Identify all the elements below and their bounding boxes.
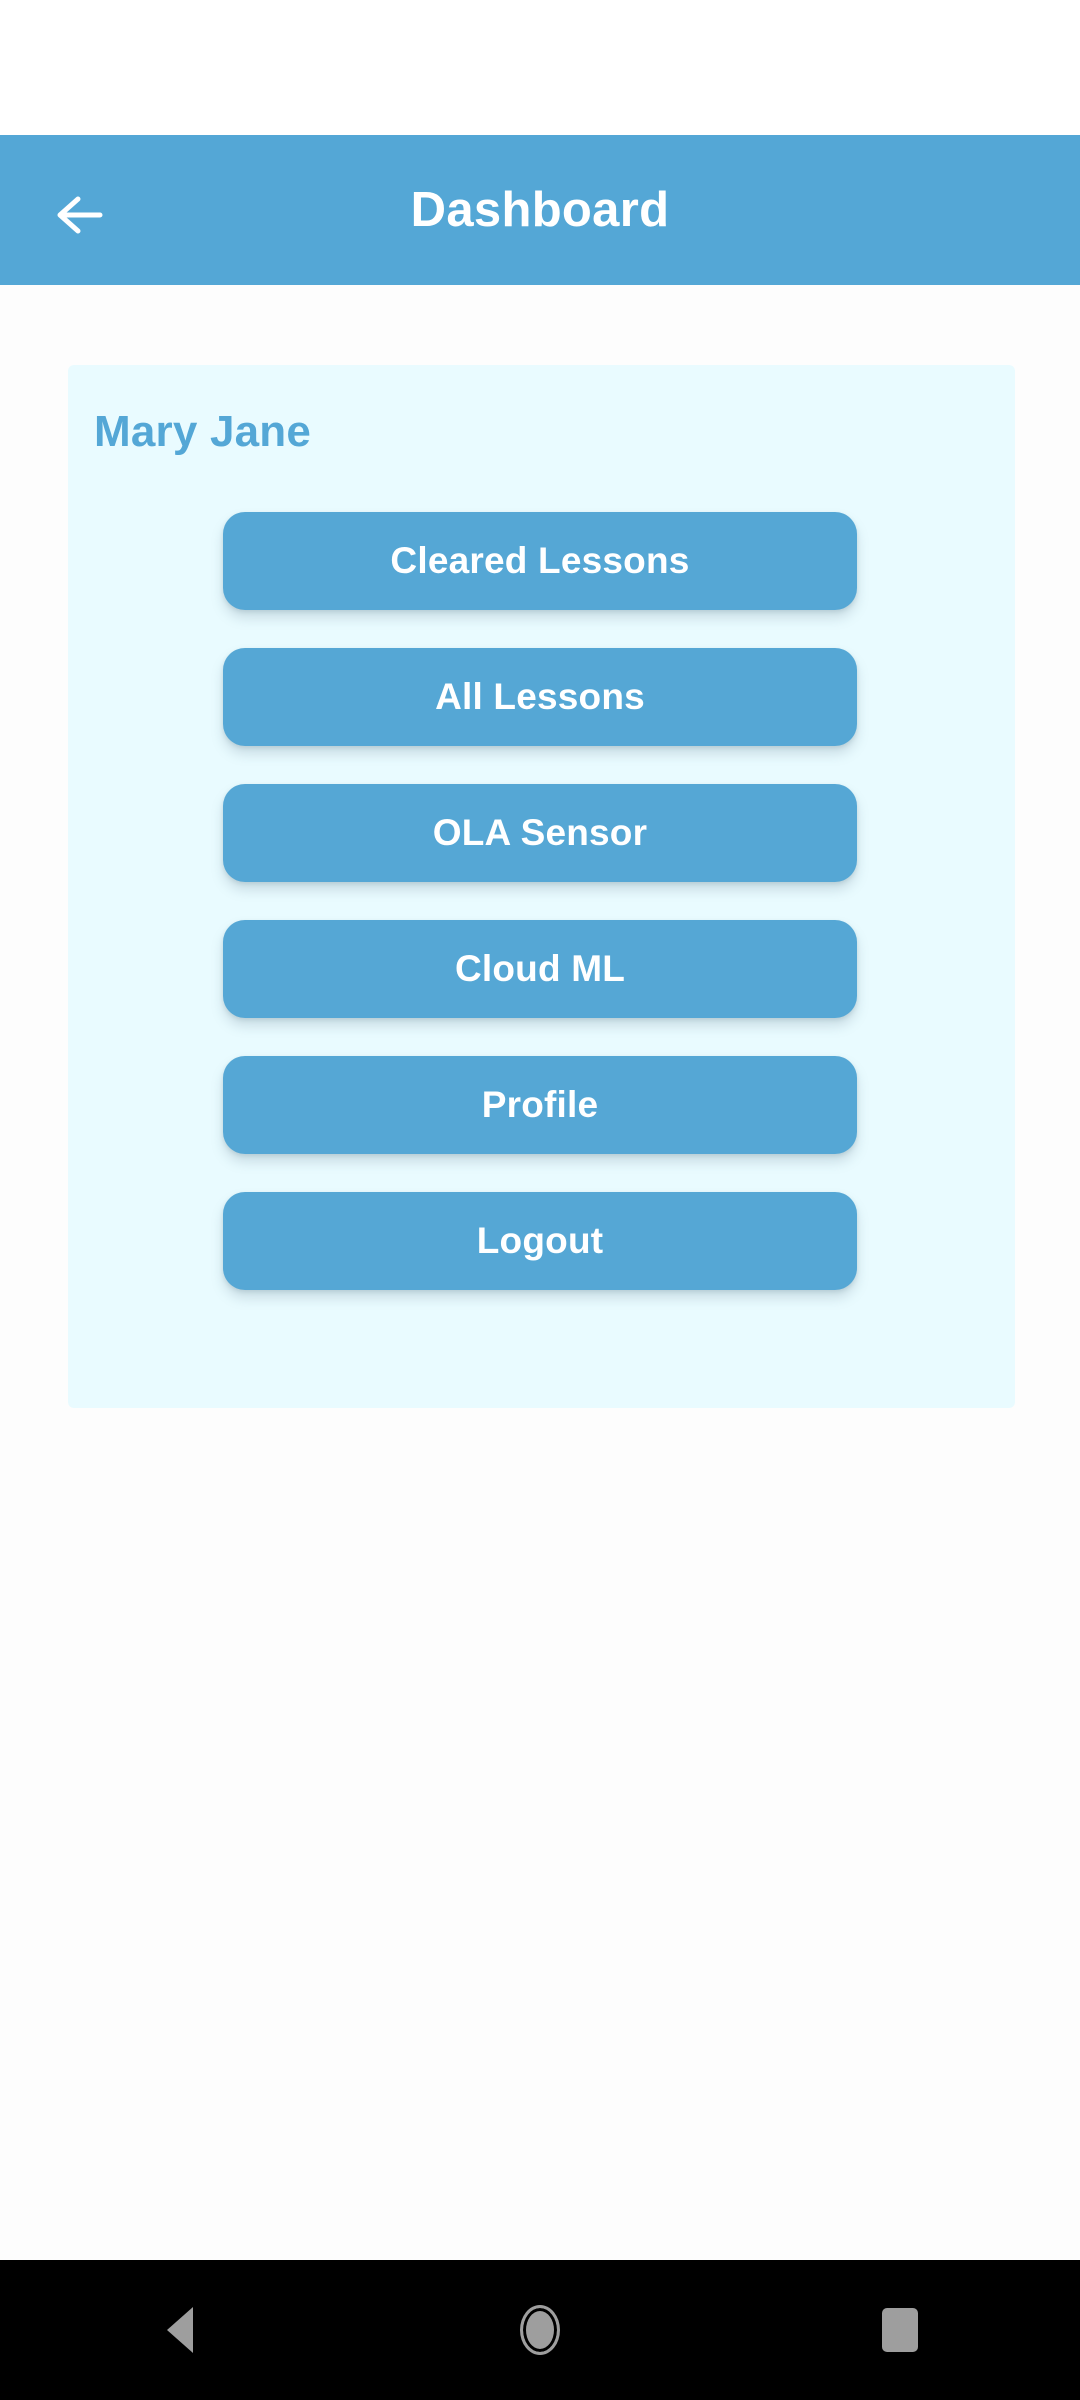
user-name-label: Mary Jane xyxy=(94,407,311,457)
app-bar: Dashboard xyxy=(0,135,1080,285)
nav-back-icon xyxy=(167,2307,193,2353)
page-title: Dashboard xyxy=(0,135,1080,285)
nav-recents-icon xyxy=(882,2308,918,2352)
nav-recents-button[interactable] xyxy=(830,2260,970,2400)
nav-home-icon xyxy=(520,2305,560,2355)
dashboard-button-list: Cleared Lessons All Lessons OLA Sensor C… xyxy=(223,512,857,1290)
cloud-ml-button[interactable]: Cloud ML xyxy=(223,920,857,1018)
profile-button[interactable]: Profile xyxy=(223,1056,857,1154)
status-bar xyxy=(0,0,1080,135)
cleared-lessons-button[interactable]: Cleared Lessons xyxy=(223,512,857,610)
ola-sensor-button[interactable]: OLA Sensor xyxy=(223,784,857,882)
content-area: Mary Jane Cleared Lessons All Lessons OL… xyxy=(0,285,1080,2260)
logout-button[interactable]: Logout xyxy=(223,1192,857,1290)
dashboard-card: Mary Jane Cleared Lessons All Lessons OL… xyxy=(68,365,1015,1408)
android-nav-bar xyxy=(0,2260,1080,2400)
nav-back-button[interactable] xyxy=(110,2260,250,2400)
all-lessons-button[interactable]: All Lessons xyxy=(223,648,857,746)
nav-home-button[interactable] xyxy=(470,2260,610,2400)
